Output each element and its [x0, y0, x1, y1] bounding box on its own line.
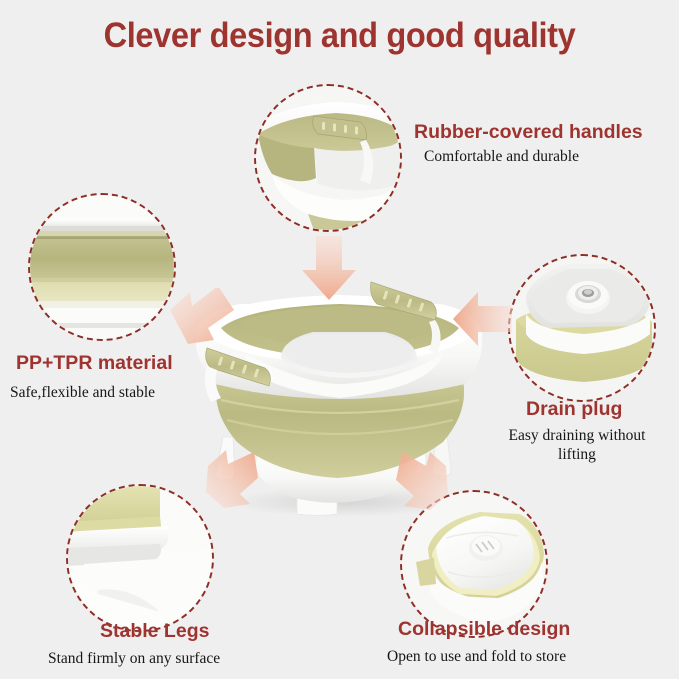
callout-circle-collapsible-design	[400, 490, 548, 638]
infographic-canvas: Clever design and good quality	[0, 0, 679, 679]
callout-circle-stable-legs	[66, 484, 214, 632]
callout-subtitle-rubber-covered-handles: Comfortable and durable	[424, 148, 579, 167]
callout-subtitle-drain-plug: Easy draining without lifting	[492, 427, 662, 465]
arrow-right-down-icon	[168, 288, 236, 350]
callout-circle-drain-plug	[508, 254, 656, 402]
material-closeup-image	[30, 195, 174, 339]
stable-leg-closeup-image	[68, 486, 212, 630]
callout-circle-rubber-covered-handles	[254, 84, 402, 232]
callout-subtitle-pp-tpr-material: Safe,flexible and stable	[10, 384, 155, 403]
handle-closeup-image	[256, 86, 400, 230]
callout-heading-pp-tpr-material: PP+TPR material	[16, 352, 173, 374]
page-title: Clever design and good quality	[24, 16, 655, 56]
arrow-up-left-icon	[396, 452, 454, 512]
callout-heading-stable-legs: Stable Legs	[100, 620, 209, 642]
callout-heading-collapsible-design: Collapsible design	[398, 618, 570, 640]
callout-heading-drain-plug: Drain plug	[526, 398, 622, 420]
folded-basin-closeup-image	[402, 492, 546, 636]
arrow-up-right-icon	[200, 448, 262, 510]
callout-subtitle-collapsible-design: Open to use and fold to store	[387, 648, 566, 667]
folded-drain-detail	[469, 535, 503, 561]
arrow-down-icon	[300, 236, 358, 304]
callout-subtitle-stable-legs: Stand firmly on any surface	[48, 650, 220, 669]
drain-plug-closeup-image	[510, 256, 654, 400]
callout-heading-rubber-covered-handles: Rubber-covered handles	[414, 121, 643, 143]
callout-circle-pp-tpr-material	[28, 193, 176, 341]
arrow-left-icon	[452, 290, 514, 348]
